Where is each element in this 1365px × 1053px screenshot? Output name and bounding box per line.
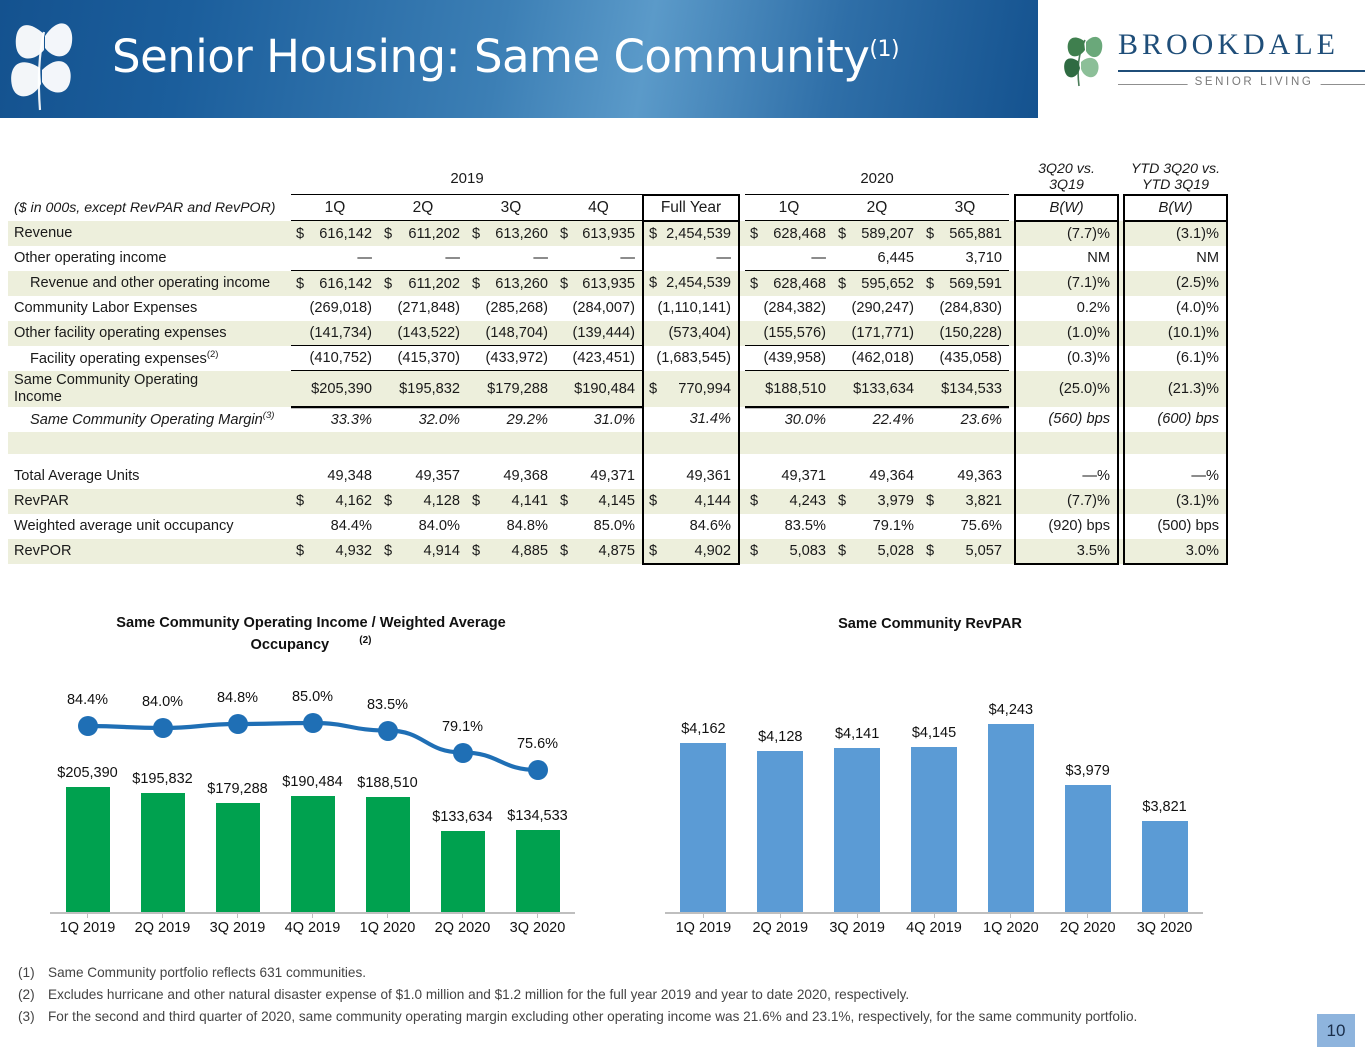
cell-2020-1q: 49,371 xyxy=(745,464,833,489)
cell-bw-1: (7.7)% xyxy=(1015,489,1118,514)
currency-symbol: $ xyxy=(296,276,304,292)
occupancy-value-label: 84.8% xyxy=(196,690,280,706)
cell-full-year: (1,683,545) xyxy=(643,346,739,371)
cell-2020-2q: 79.1% xyxy=(833,514,921,539)
cell-2019-2q: $4,128 xyxy=(379,489,467,514)
bar-revpar xyxy=(911,747,957,912)
cell-2020-1q: — xyxy=(745,246,833,271)
cell-bw-1: (920) bps xyxy=(1015,514,1118,539)
compare-header-2-line1: YTD 3Q20 vs. xyxy=(1131,161,1220,177)
cell-bw-2: (3.1)% xyxy=(1124,221,1227,246)
cell-2019-2q: 49,357 xyxy=(379,464,467,489)
cell-2019-3q: $613,260 xyxy=(467,221,555,246)
cell-value: 2,454,539 xyxy=(666,275,731,291)
cell-value: 5,028 xyxy=(877,543,914,559)
row-label: Same Community Operating Margin(3) xyxy=(8,407,291,432)
occupancy-value-label: 84.4% xyxy=(46,692,130,708)
spacer-cell xyxy=(555,454,643,464)
cell-2019-1q: $4,932 xyxy=(291,539,379,564)
currency-symbol: $ xyxy=(384,493,392,509)
cell-value: 2,454,539 xyxy=(666,226,731,242)
cell-bw-1: NM xyxy=(1015,246,1118,271)
cell-bw-2: —% xyxy=(1124,464,1227,489)
col-header-2019-2q: 2Q xyxy=(379,195,467,221)
cell-bw-2: (6.1)% xyxy=(1124,346,1227,371)
cell-2019-3q: $613,260 xyxy=(467,271,555,296)
cell-bw-2: (3.1)% xyxy=(1124,489,1227,514)
cell-2019-3q: (285,268) xyxy=(467,296,555,321)
cell-2019-4q: (139,444) xyxy=(555,321,643,346)
col-header-2019-4q: 4Q xyxy=(555,195,643,221)
cell-value: 4,875 xyxy=(598,543,635,559)
currency-symbol: $ xyxy=(649,493,657,509)
cell-2019-2q: 84.0% xyxy=(379,514,467,539)
currency-symbol: $ xyxy=(649,275,657,291)
cell-2020-1q: $628,468 xyxy=(745,271,833,296)
cell-2019-2q: 32.0% xyxy=(379,407,467,432)
currency-symbol: $ xyxy=(472,226,480,242)
cell-2019-4q: $613,935 xyxy=(555,271,643,296)
cell-bw-2: (2.5)% xyxy=(1124,271,1227,296)
cell-2020-3q: (150,228) xyxy=(921,321,1009,346)
footnote-item: (3) For the second and third quarter of … xyxy=(18,1006,1318,1028)
cell-2020-2q: (290,247) xyxy=(833,296,921,321)
bar-revpar xyxy=(1142,821,1188,912)
spacer-cell xyxy=(467,454,555,464)
occupancy-value-label: 75.6% xyxy=(496,736,580,752)
table-spacer-row-shaded xyxy=(8,432,1227,454)
cell-value: 4,162 xyxy=(335,493,372,509)
cell-value: 4,902 xyxy=(694,543,731,559)
col-header-2020-2q: 2Q xyxy=(833,195,921,221)
x-axis-category-label: 3Q 2020 xyxy=(1123,920,1207,936)
group-header-2020: 2020 xyxy=(745,162,1009,195)
cell-full-year: $4,144 xyxy=(643,489,739,514)
cell-2019-4q: $613,935 xyxy=(555,221,643,246)
cell-2019-1q: $4,162 xyxy=(291,489,379,514)
bar-value-label: $3,821 xyxy=(1119,799,1211,815)
occupancy-data-point xyxy=(78,716,98,736)
logo-subtitle-wrap: SENIOR LIVING xyxy=(1118,76,1365,92)
cell-2020-2q: (171,771) xyxy=(833,321,921,346)
col-header-2020-3q: 3Q xyxy=(921,195,1009,221)
page-title: Senior Housing: Same Community(1) xyxy=(112,30,899,83)
cell-full-year: 31.4% xyxy=(643,407,739,432)
cell-full-year: 49,361 xyxy=(643,464,739,489)
cell-2019-4q: $4,875 xyxy=(555,539,643,564)
row-label: Weighted average unit occupancy xyxy=(8,514,291,539)
cell-2020-3q: $565,881 xyxy=(921,221,1009,246)
currency-symbol: $ xyxy=(296,493,304,509)
cell-2019-2q: $195,832 xyxy=(379,371,467,407)
brookdale-leaf-icon xyxy=(1062,30,1108,88)
spacer-cell xyxy=(921,454,1009,464)
brookdale-logo: BROOKDALE SENIOR LIVING xyxy=(1062,26,1347,96)
table-row-same-community-operating-income: Same Community Operating Income $205,390… xyxy=(8,371,1227,407)
occupancy-data-point xyxy=(153,718,173,738)
cell-2020-1q: $188,510 xyxy=(745,371,833,407)
footnote-item: (1) Same Community portfolio reflects 63… xyxy=(18,962,1318,984)
table-row-weighted-average-unit-occupancy: Weighted average unit occupancy 84.4% 84… xyxy=(8,514,1227,539)
spacer-cell xyxy=(745,454,833,464)
group-header-2019: 2019 xyxy=(291,162,643,195)
col-header-2019-1q: 1Q xyxy=(291,195,379,221)
compare-header-1: 3Q20 vs. 3Q19 xyxy=(1015,162,1118,195)
row-label: Other facility operating expenses xyxy=(8,321,291,346)
occupancy-value-label: 83.5% xyxy=(346,697,430,713)
cell-2019-1q: (410,752) xyxy=(291,346,379,371)
currency-symbol: $ xyxy=(926,226,934,242)
footnote-text: Same Community portfolio reflects 631 co… xyxy=(48,962,366,984)
cell-value: 4,885 xyxy=(511,543,548,559)
row-label: Revenue xyxy=(8,221,291,246)
currency-symbol: $ xyxy=(750,493,758,509)
table-row-other-facility-operating-expenses: Other facility operating expenses (141,7… xyxy=(8,321,1227,346)
cell-2019-4q: — xyxy=(555,246,643,271)
occupancy-line-series xyxy=(40,670,600,960)
cell-value: 4,145 xyxy=(598,493,635,509)
currency-symbol: $ xyxy=(750,276,758,292)
spacer-cell xyxy=(555,432,643,454)
footnote-number: (1) xyxy=(18,962,48,984)
currency-symbol: $ xyxy=(926,543,934,559)
cell-2020-2q: $133,634 xyxy=(833,371,921,407)
occupancy-value-label: 85.0% xyxy=(271,689,355,705)
compare-header-1-line1: 3Q20 vs. xyxy=(1038,161,1095,177)
table-spacer-row-white xyxy=(8,454,1227,464)
bar-value-label: $4,243 xyxy=(965,702,1057,718)
col-header-2020-1q: 1Q xyxy=(745,195,833,221)
cell-full-year: $4,902 xyxy=(643,539,739,564)
cell-bw-2: NM xyxy=(1124,246,1227,271)
occupancy-data-point xyxy=(303,713,323,733)
cell-value: 4,243 xyxy=(789,493,826,509)
spacer-cell xyxy=(291,432,379,454)
currency-symbol: $ xyxy=(560,543,568,559)
spacer-cell xyxy=(379,432,467,454)
table-row-revenue: Revenue $616,142 $611,202 $613,260 $613,… xyxy=(8,221,1227,246)
cell-bw-2: (21.3)% xyxy=(1124,371,1227,407)
cell-2019-2q: $4,914 xyxy=(379,539,467,564)
table-row-total-average-units: Total Average Units 49,348 49,357 49,368… xyxy=(8,464,1227,489)
cell-bw-1: —% xyxy=(1015,464,1118,489)
chart-title-text: Same Community RevPAR xyxy=(838,616,1022,632)
table-row-facility-operating-expenses: Facility operating expenses(2) (410,752)… xyxy=(8,346,1227,371)
currency-symbol: $ xyxy=(838,276,846,292)
x-axis-tick xyxy=(857,912,858,918)
footnotes-block: (1) Same Community portfolio reflects 63… xyxy=(18,962,1318,1028)
cell-2019-4q: (423,451) xyxy=(555,346,643,371)
cell-bw-1: (560) bps xyxy=(1015,407,1118,432)
occupancy-value-label: 79.1% xyxy=(421,719,505,735)
cell-2019-2q: $611,202 xyxy=(379,221,467,246)
x-axis-tick xyxy=(1010,912,1011,918)
footnote-item: (2) Excludes hurricane and other natural… xyxy=(18,984,1318,1006)
currency-symbol: $ xyxy=(384,276,392,292)
cell-value: 613,260 xyxy=(495,226,548,242)
spacer-cell xyxy=(291,454,379,464)
cell-bw-1: 3.5% xyxy=(1015,539,1118,564)
table-group-header-row: 2019 2020 3Q20 vs. 3Q19 YTD 3Q20 vs. YTD… xyxy=(8,162,1227,195)
currency-symbol: $ xyxy=(838,493,846,509)
financial-table: 2019 2020 3Q20 vs. 3Q19 YTD 3Q20 vs. YTD… xyxy=(8,162,1228,565)
cell-2020-3q: $3,821 xyxy=(921,489,1009,514)
cell-2019-4q: 49,371 xyxy=(555,464,643,489)
table-row-revpor: RevPOR $4,932 $4,914 $4,885 $4,875 $4,90… xyxy=(8,539,1227,564)
cell-value: 613,935 xyxy=(582,226,635,242)
cell-2020-1q: (155,576) xyxy=(745,321,833,346)
cell-2020-1q: 30.0% xyxy=(745,407,833,432)
x-axis-category-label: 1Q 2019 xyxy=(661,920,745,936)
currency-symbol: $ xyxy=(838,226,846,242)
row-label-text: Facility operating expenses xyxy=(30,351,207,367)
cell-2019-4q: (284,007) xyxy=(555,296,643,321)
row-label: Revenue and other operating income xyxy=(8,271,291,296)
cell-value: 595,652 xyxy=(861,276,914,292)
slide-header-banner: Senior Housing: Same Community(1) xyxy=(0,0,1038,118)
cell-2019-3q: $4,141 xyxy=(467,489,555,514)
currency-symbol: $ xyxy=(649,226,657,242)
cell-2019-3q: $179,288 xyxy=(467,371,555,407)
cell-2019-4q: $4,145 xyxy=(555,489,643,514)
table-row-same-community-operating-margin: Same Community Operating Margin(3) 33.3%… xyxy=(8,407,1227,432)
cell-full-year: (1,110,141) xyxy=(643,296,739,321)
cell-2019-3q: $4,885 xyxy=(467,539,555,564)
row-label: Facility operating expenses(2) xyxy=(8,346,291,371)
spacer-cell xyxy=(833,432,921,454)
row-label-line2: Income xyxy=(14,389,62,405)
cell-2020-2q: $3,979 xyxy=(833,489,921,514)
x-axis-tick xyxy=(780,912,781,918)
cell-2020-2q: (462,018) xyxy=(833,346,921,371)
cell-2020-2q: $5,028 xyxy=(833,539,921,564)
cell-value: 616,142 xyxy=(319,276,372,292)
cell-2020-3q: 75.6% xyxy=(921,514,1009,539)
currency-symbol: $ xyxy=(384,226,392,242)
currency-symbol: $ xyxy=(472,276,480,292)
x-axis-category-label: 3Q 2019 xyxy=(815,920,899,936)
cell-2019-1q: — xyxy=(291,246,379,271)
cell-value: 628,468 xyxy=(773,276,826,292)
cell-2020-3q: (284,830) xyxy=(921,296,1009,321)
table-row-other-operating-income: Other operating income — — — — — — 6,445… xyxy=(8,246,1227,271)
cell-full-year: — xyxy=(643,246,739,271)
spacer-cell xyxy=(8,162,291,195)
chart-operating-income-occupancy: $205,3901Q 2019$195,8322Q 2019$179,2883Q… xyxy=(40,670,600,960)
cell-2020-3q: $569,591 xyxy=(921,271,1009,296)
spacer-cell xyxy=(643,454,739,464)
cell-2019-4q: 31.0% xyxy=(555,407,643,432)
cell-bw-1: (7.1)% xyxy=(1015,271,1118,296)
table-row-community-labor-expenses: Community Labor Expenses (269,018) (271,… xyxy=(8,296,1227,321)
cell-value: 4,914 xyxy=(423,543,460,559)
cell-value: 770,994 xyxy=(678,381,731,397)
cell-2020-1q: $628,468 xyxy=(745,221,833,246)
currency-symbol: $ xyxy=(649,543,657,559)
occupancy-value-label: 84.0% xyxy=(121,694,205,710)
bar-revpar xyxy=(988,724,1034,912)
table-column-header-row: ($ in 000s, except RevPAR and RevPOR) 1Q… xyxy=(8,195,1227,221)
chart-title-revpar: Same Community RevPAR xyxy=(720,615,1140,635)
cell-2019-2q: $611,202 xyxy=(379,271,467,296)
cell-bw-2: 3.0% xyxy=(1124,539,1227,564)
cell-2019-2q: (271,848) xyxy=(379,296,467,321)
row-label: RevPOR xyxy=(8,539,291,564)
cell-2019-1q: 84.4% xyxy=(291,514,379,539)
cell-full-year: $2,454,539 xyxy=(643,271,739,296)
row-label-line1: Same Community Operating xyxy=(14,372,198,388)
x-axis-tick xyxy=(703,912,704,918)
occupancy-data-point xyxy=(453,743,473,763)
cell-bw-1: 0.2% xyxy=(1015,296,1118,321)
currency-symbol: $ xyxy=(560,226,568,242)
cell-2020-2q: 49,364 xyxy=(833,464,921,489)
page-title-text: Senior Housing: Same Community xyxy=(112,30,869,83)
financial-table-container: 2019 2020 3Q20 vs. 3Q19 YTD 3Q20 vs. YTD… xyxy=(8,162,1218,565)
cell-2019-2q: (143,522) xyxy=(379,321,467,346)
cell-value: 4,144 xyxy=(694,493,731,509)
cell-2020-1q: 83.5% xyxy=(745,514,833,539)
spacer-cell xyxy=(8,454,291,464)
chart-title-footnote-marker: (2) xyxy=(359,635,371,646)
cell-2020-1q: (284,382) xyxy=(745,296,833,321)
spacer-cell xyxy=(1015,432,1118,454)
col-header-bw-1: B(W) xyxy=(1015,195,1118,221)
bar-value-label: $4,145 xyxy=(888,725,980,741)
x-axis-tick xyxy=(1087,912,1088,918)
currency-symbol: $ xyxy=(560,493,568,509)
cell-2019-4q: $190,484 xyxy=(555,371,643,407)
chart-title-operating-income-occupancy: Same Community Operating Income / Weight… xyxy=(78,614,544,655)
bar-revpar xyxy=(680,743,726,912)
table-row-revpar: RevPAR $4,162 $4,128 $4,141 $4,145 $4,14… xyxy=(8,489,1227,514)
cell-value: 628,468 xyxy=(773,226,826,242)
cell-2020-3q: 49,363 xyxy=(921,464,1009,489)
compare-header-2: YTD 3Q20 vs. YTD 3Q19 xyxy=(1124,162,1227,195)
spacer-cell xyxy=(1124,432,1227,454)
cell-full-year: $2,454,539 xyxy=(643,221,739,246)
page-number-badge: 10 xyxy=(1317,1014,1355,1047)
cell-bw-1: (25.0)% xyxy=(1015,371,1118,407)
currency-symbol: $ xyxy=(838,543,846,559)
cell-full-year: (573,404) xyxy=(643,321,739,346)
cell-2020-3q: 23.6% xyxy=(921,407,1009,432)
cell-bw-2: (500) bps xyxy=(1124,514,1227,539)
col-header-bw-2: B(W) xyxy=(1124,195,1227,221)
logo-rule xyxy=(1118,70,1365,72)
currency-symbol: $ xyxy=(649,381,657,397)
cell-value: 613,260 xyxy=(495,276,548,292)
cell-2020-1q: (439,958) xyxy=(745,346,833,371)
cell-2019-1q: 33.3% xyxy=(291,407,379,432)
occupancy-data-point xyxy=(378,721,398,741)
cell-bw-1: (1.0)% xyxy=(1015,321,1118,346)
bar-revpar xyxy=(757,751,803,912)
chart-revpar: $4,1621Q 2019$4,1282Q 2019$4,1413Q 2019$… xyxy=(655,670,1215,960)
cell-2020-1q: $5,083 xyxy=(745,539,833,564)
cell-2019-3q: (148,704) xyxy=(467,321,555,346)
spacer-cell xyxy=(745,432,833,454)
spacer-cell xyxy=(8,432,291,454)
footnote-number: (2) xyxy=(18,984,48,1006)
cell-value: 4,932 xyxy=(335,543,372,559)
compare-header-1-line2: 3Q19 xyxy=(1049,177,1084,193)
currency-symbol: $ xyxy=(472,543,480,559)
cell-value: 565,881 xyxy=(949,226,1002,242)
footnote-text: For the second and third quarter of 2020… xyxy=(48,1006,1137,1028)
table-row-revenue-and-other-operating-income: Revenue and other operating income $616,… xyxy=(8,271,1227,296)
cell-value: 616,142 xyxy=(319,226,372,242)
currency-symbol: $ xyxy=(750,543,758,559)
spacer-cell xyxy=(1015,454,1118,464)
x-axis-category-label: 2Q 2020 xyxy=(1046,920,1130,936)
cell-bw-2: (4.0)% xyxy=(1124,296,1227,321)
spacer-cell xyxy=(643,432,739,454)
cell-value: 5,057 xyxy=(965,543,1002,559)
spacer-cell xyxy=(1124,454,1227,464)
row-label: Same Community Operating Income xyxy=(8,371,291,407)
spacer-cell xyxy=(921,432,1009,454)
cell-2020-2q: $595,652 xyxy=(833,271,921,296)
row-label-footnote-marker: (2) xyxy=(207,349,219,360)
x-axis-category-label: 2Q 2019 xyxy=(738,920,822,936)
cell-bw-1: (0.3)% xyxy=(1015,346,1118,371)
x-axis-tick xyxy=(934,912,935,918)
brookdale-tagline: SENIOR LIVING xyxy=(1188,76,1321,88)
cell-2019-3q: 84.8% xyxy=(467,514,555,539)
row-label: Other operating income xyxy=(8,246,291,271)
x-axis-tick xyxy=(1164,912,1165,918)
cell-2019-1q: 49,348 xyxy=(291,464,379,489)
compare-header-2-line2: YTD 3Q19 xyxy=(1142,177,1209,193)
cell-2020-3q: 3,710 xyxy=(921,246,1009,271)
units-note: ($ in 000s, except RevPAR and RevPOR) xyxy=(8,195,291,221)
occupancy-data-point xyxy=(228,714,248,734)
cell-2019-1q: $205,390 xyxy=(291,371,379,407)
spacer-cell-fy xyxy=(643,162,739,195)
currency-symbol: $ xyxy=(926,276,934,292)
cell-value: 569,591 xyxy=(949,276,1002,292)
cell-2019-3q: (433,972) xyxy=(467,346,555,371)
page-title-footnote-marker: (1) xyxy=(869,37,899,62)
cell-2019-4q: 85.0% xyxy=(555,514,643,539)
currency-symbol: $ xyxy=(750,226,758,242)
cell-2019-1q: (141,734) xyxy=(291,321,379,346)
cell-2020-1q: $4,243 xyxy=(745,489,833,514)
cell-2020-2q: 6,445 xyxy=(833,246,921,271)
cell-2020-2q: 22.4% xyxy=(833,407,921,432)
spacer-cell xyxy=(467,432,555,454)
currency-symbol: $ xyxy=(384,543,392,559)
row-label-footnote-marker: (3) xyxy=(263,410,275,421)
currency-symbol: $ xyxy=(926,493,934,509)
col-header-full-year: Full Year xyxy=(643,195,739,221)
cell-2020-3q: $5,057 xyxy=(921,539,1009,564)
footnote-text: Excludes hurricane and other natural dis… xyxy=(48,984,909,1006)
cell-value: 611,202 xyxy=(408,276,460,292)
row-label: Total Average Units xyxy=(8,464,291,489)
spacer-cell xyxy=(833,454,921,464)
cell-2020-3q: $134,533 xyxy=(921,371,1009,407)
leaf-decoration-icon xyxy=(4,6,100,114)
cell-value: 5,083 xyxy=(789,543,826,559)
cell-2019-1q: $616,142 xyxy=(291,271,379,296)
cell-value: 4,141 xyxy=(511,493,548,509)
cell-2019-1q: $616,142 xyxy=(291,221,379,246)
cell-2019-3q: 49,368 xyxy=(467,464,555,489)
col-header-2019-3q: 3Q xyxy=(467,195,555,221)
cell-2019-3q: — xyxy=(467,246,555,271)
